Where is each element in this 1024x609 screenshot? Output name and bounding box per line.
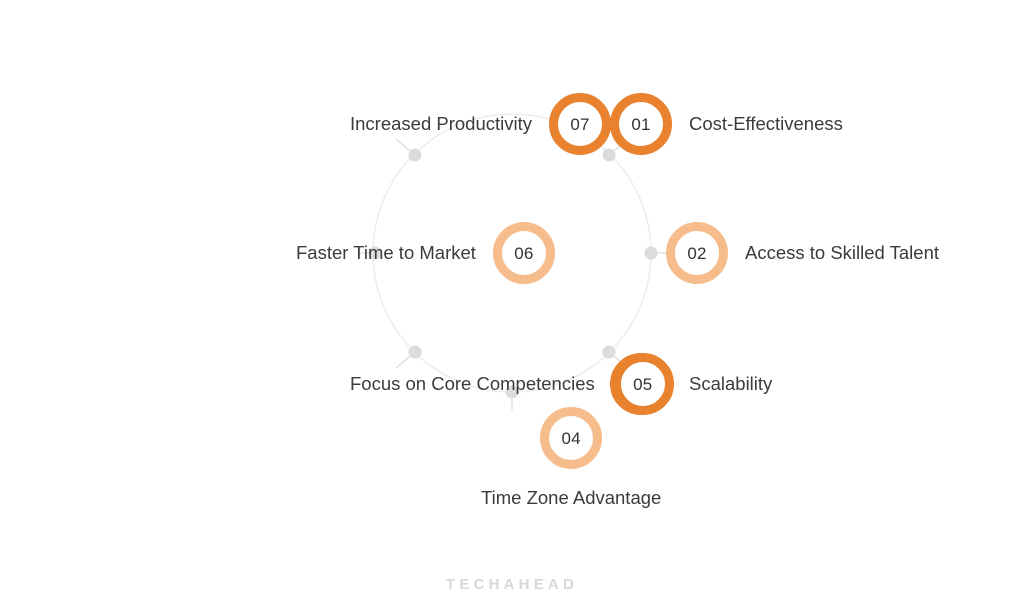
hub-dot-02 [645, 247, 658, 260]
node-04-ring[interactable]: 04 [540, 407, 602, 469]
infographic-canvas: 01 Cost-Effectiveness 02 Access to Skill… [0, 0, 1024, 609]
node-01[interactable]: 01 Cost-Effectiveness [610, 93, 843, 155]
node-05-label: Focus on Core Competencies [350, 373, 595, 395]
node-05-number: 05 [633, 376, 652, 393]
techahead-watermark: TECHAHEAD [0, 576, 1024, 593]
node-07[interactable]: 07 Increased Productivity [350, 93, 611, 155]
node-06-label: Faster Time to Market [296, 242, 476, 264]
node-02-number: 02 [687, 245, 706, 262]
node-04[interactable]: 04 Time Zone Advantage [481, 407, 661, 509]
node-06-number: 06 [514, 245, 533, 262]
node-02-ring[interactable]: 02 [666, 222, 728, 284]
node-06[interactable]: 06 Faster Time to Market [296, 222, 555, 284]
node-07-label: Increased Productivity [350, 113, 532, 135]
node-04-label: Time Zone Advantage [481, 487, 661, 509]
node-06-ring[interactable]: 06 [493, 222, 555, 284]
node-01-label: Cost-Effectiveness [689, 113, 843, 135]
node-05[interactable]: 05 Focus on Core Competencies [350, 353, 674, 415]
hub-and-connectors [0, 0, 1024, 609]
node-04-number: 04 [562, 430, 581, 447]
node-03-label: Scalability [689, 373, 772, 395]
node-02[interactable]: 02 Access to Skilled Talent [666, 222, 939, 284]
node-01-ring[interactable]: 01 [610, 93, 672, 155]
node-02-label: Access to Skilled Talent [745, 242, 939, 264]
node-05-ring[interactable]: 05 [612, 353, 674, 415]
node-07-number: 07 [570, 116, 589, 133]
node-01-number: 01 [631, 116, 650, 133]
node-07-ring[interactable]: 07 [549, 93, 611, 155]
